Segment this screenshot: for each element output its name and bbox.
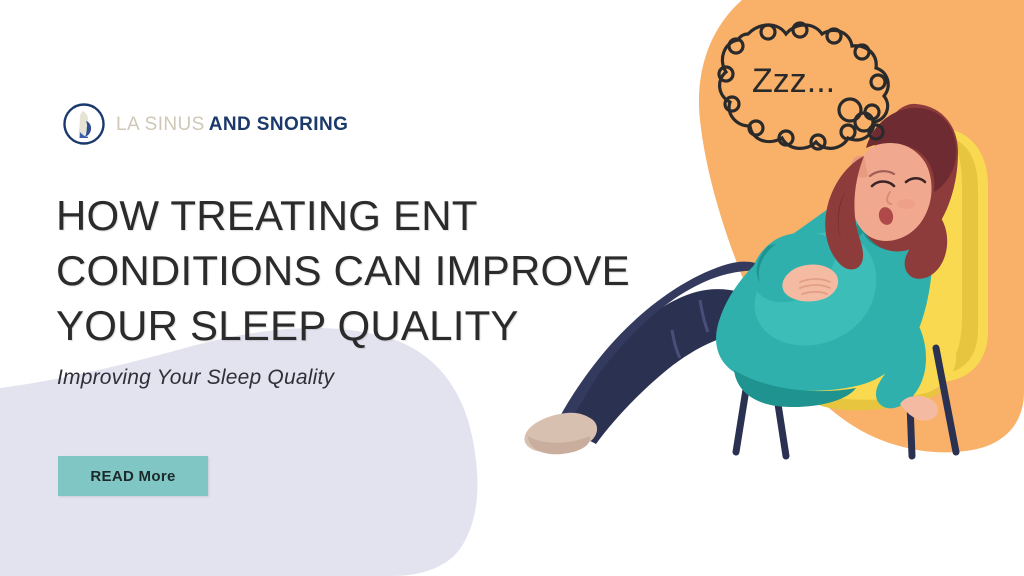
blog-banner: LA SINUSAND SNORING HOW TREATING ENT CON… — [0, 0, 1024, 576]
brand-name-primary: LA SINUS — [116, 114, 205, 135]
orange-blob — [699, 0, 1024, 452]
subtitle: Improving Your Sleep Quality — [57, 366, 334, 390]
la-sinus-circle-logo-icon — [62, 102, 106, 146]
brand-name-secondary: AND SNORING — [209, 114, 349, 135]
read-more-button[interactable]: READ More — [58, 456, 208, 496]
page-title: HOW TREATING ENT CONDITIONS CAN IMPROVE … — [56, 188, 666, 353]
brand-logo-text: LA SINUSAND SNORING — [116, 115, 348, 134]
brand-logo[interactable]: LA SINUSAND SNORING — [62, 102, 348, 146]
